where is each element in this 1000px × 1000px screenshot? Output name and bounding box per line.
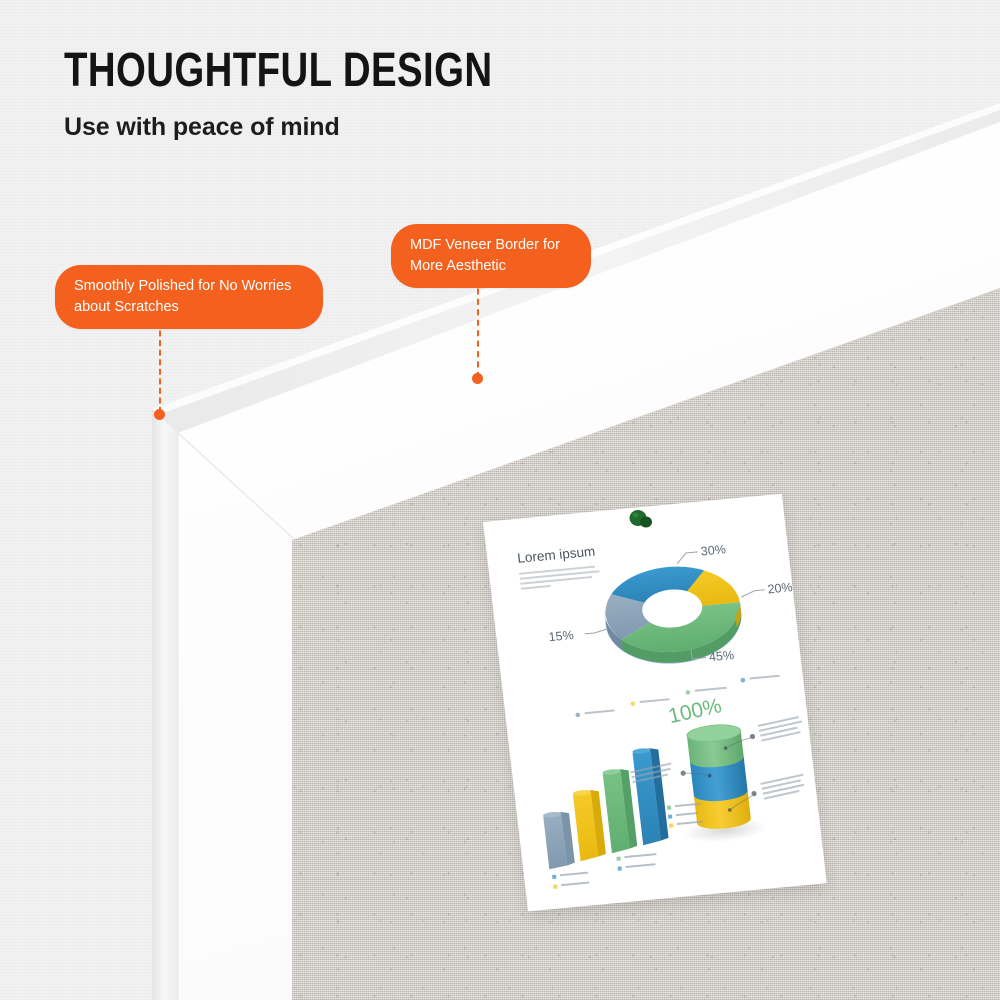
callout-endpoint-dot-left [154,409,165,420]
headline-block: THOUGHTFUL DESIGN Use with peace of mind [64,47,764,142]
callout-smoothly-polished[interactable]: Smoothly Polished for No Worries about S… [55,265,323,329]
callout-mdf-veneer-border[interactable]: MDF Veneer Border for More Aesthetic [391,224,591,288]
green-pushpin [628,508,654,532]
board-geometry [0,0,1000,1000]
board-inner-shadow-left [294,540,306,1000]
page-subtitle: Use with peace of mind [64,113,764,142]
callout-leader-line-right [477,278,479,378]
callout-endpoint-dot-right [472,373,483,384]
board-left-side-edge [152,409,178,1000]
bulletin-board [0,0,1000,1000]
page-title: THOUGHTFUL DESIGN [64,47,624,95]
callout-leader-line-left [159,321,161,413]
